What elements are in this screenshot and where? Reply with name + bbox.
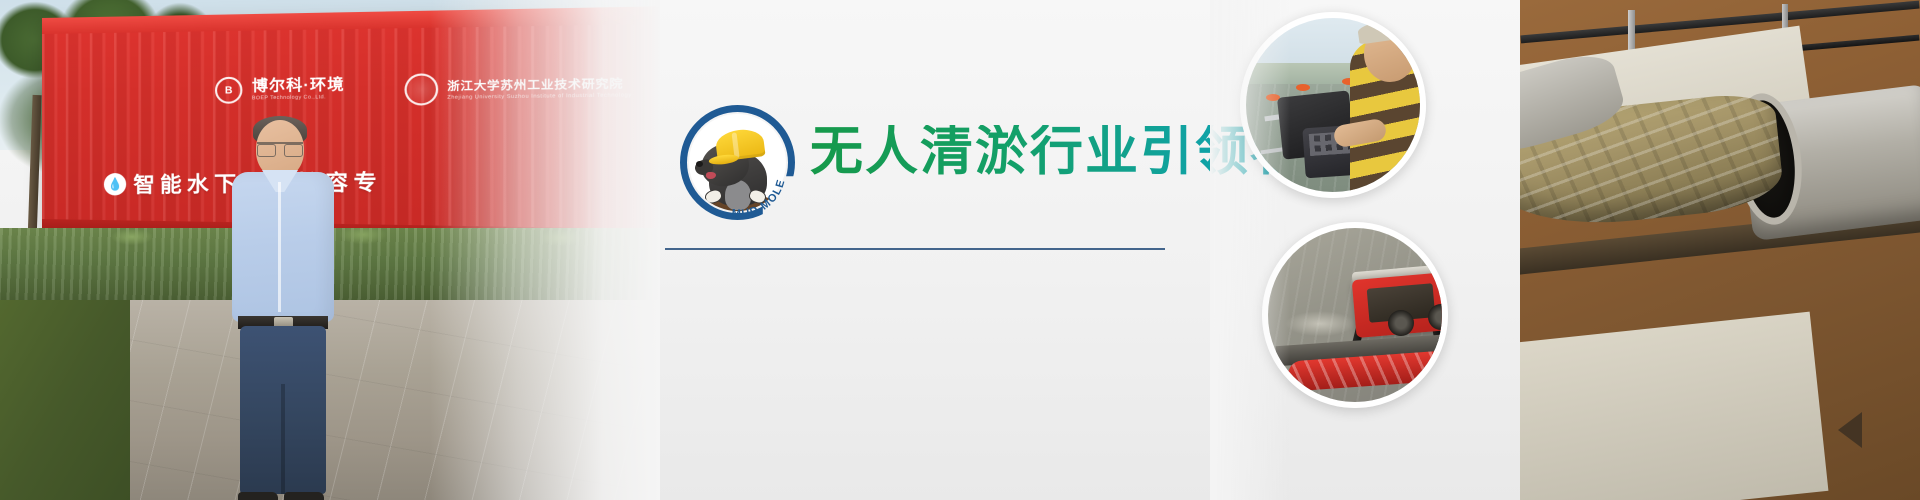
grass-strip — [0, 300, 130, 500]
container-brand-name-en: BOEP Technology Co.,Ltd. — [252, 94, 345, 101]
left-photo-fade-overlay — [430, 0, 660, 500]
mole-nose — [696, 161, 703, 167]
container-brand-name: 博尔科·环境 — [252, 77, 345, 95]
hard-hat-icon — [714, 127, 765, 162]
concrete-slab-lower — [1520, 312, 1828, 500]
person-shirt — [232, 172, 334, 322]
branding-block: MUD MOLE 无人清淤行业引领者 — [660, 0, 1260, 500]
sludge-discharge-photo — [1520, 0, 1920, 500]
float-marker — [1296, 84, 1310, 91]
company-container-photo: B 博尔科·环境 BOEP Technology Co.,Ltd. 浙江大学苏州… — [0, 0, 660, 500]
arrow-icon — [1838, 412, 1862, 448]
eyeglasses-icon — [257, 142, 303, 153]
right-image-group — [1210, 0, 1920, 500]
person-shoe-right — [284, 492, 324, 500]
person-shirt-placket — [278, 182, 281, 312]
person-figure — [218, 120, 348, 500]
right-zone-fade-overlay — [1210, 0, 1290, 500]
logo-inner-disc — [689, 114, 786, 211]
person-shoe-left — [238, 492, 278, 500]
person-trousers — [240, 326, 326, 494]
robot-wheel — [1388, 310, 1414, 336]
hero-banner: B 博尔科·环境 BOEP Technology Co.,Ltd. 浙江大学苏州… — [0, 0, 1920, 500]
robot-wheel — [1428, 304, 1448, 330]
container-brand-block: B 博尔科·环境 BOEP Technology Co.,Ltd. — [215, 75, 345, 104]
headline-divider — [665, 248, 1165, 250]
mud-mole-logo: MUD MOLE — [680, 105, 795, 220]
company-mark-icon: B — [215, 77, 242, 104]
droplet-icon: 💧 — [104, 173, 126, 196]
